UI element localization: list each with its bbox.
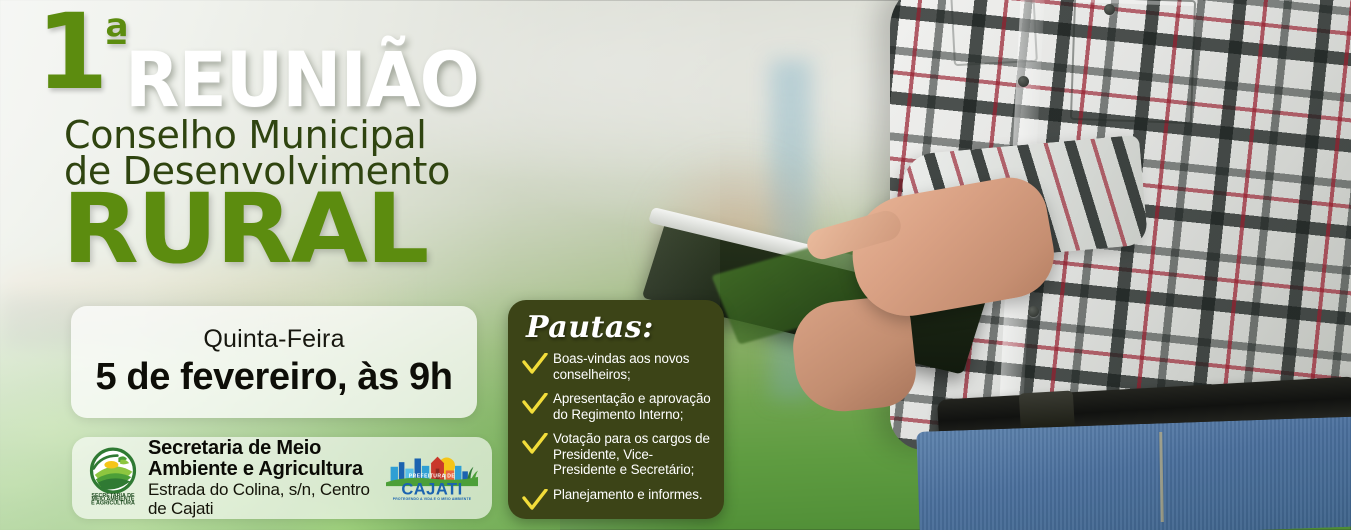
- agenda-item: Apresentação e aprovação do Regimento In…: [522, 391, 712, 422]
- weekday-label: Quinta-Feira: [203, 325, 344, 354]
- cajati-subtext: PROTEGENDO A VIDA E O MEIO AMBIENTE: [393, 497, 472, 501]
- secretariat-name-line-1: Secretaria de Meio: [148, 438, 380, 459]
- checkmark-icon: [522, 433, 548, 455]
- checkmark-icon: [522, 353, 548, 375]
- cajati-supertext: PREFEITURA DE: [409, 473, 456, 479]
- agenda-panel: Pautas: Boas-vindas aos novos conselheir…: [508, 300, 724, 519]
- agenda-list: Boas-vindas aos novos conselheiros; Apre…: [522, 351, 712, 511]
- event-banner: 1ª REUNIÃO Conselho Municipal de Desenvo…: [0, 0, 1351, 530]
- agenda-item-label: Planejamento e informes.: [553, 487, 702, 503]
- agenda-heading: Pautas:: [526, 310, 712, 345]
- ordinal-digit: 1: [36, 0, 103, 113]
- secretariat-text: Secretaria de Meio Ambiente e Agricultur…: [148, 438, 380, 519]
- cajati-city-logo: PREFEITURA DE CAJATI PROTEGENDO A VIDA E…: [386, 450, 478, 506]
- date-card: Quinta-Feira 5 de fevereiro, às 9h: [71, 306, 477, 418]
- agenda-item: Boas-vindas aos novos conselheiros;: [522, 351, 712, 382]
- agenda-item-label: Boas-vindas aos novos conselheiros;: [553, 351, 712, 382]
- agenda-item: Votação para os cargos de Presidente, Vi…: [522, 431, 712, 478]
- headline-rural: RURAL: [62, 186, 427, 272]
- emblem-caption-3: E AGRICULTURA: [91, 500, 135, 505]
- secretariat-name-line-2: Ambiente e Agricultura: [148, 459, 380, 480]
- checkmark-icon: [522, 393, 548, 415]
- agenda-item-label: Votação para os cargos de Presidente, Vi…: [553, 431, 712, 478]
- banner-content: 1ª REUNIÃO Conselho Municipal de Desenvo…: [0, 0, 1351, 530]
- agenda-item: Planejamento e informes.: [522, 487, 712, 511]
- headline-reuniao: REUNIÃO: [125, 46, 479, 114]
- date-time-label: 5 de fevereiro, às 9h: [95, 356, 452, 399]
- secretariat-address: Estrada do Colina, s/n, Centro de Cajati: [148, 481, 380, 518]
- cajati-name: CAJATI: [401, 479, 462, 498]
- checkmark-icon: [522, 489, 548, 511]
- agenda-item-label: Apresentação e aprovação do Regimento In…: [553, 391, 712, 422]
- footer-card: SECRETARIA DE MEIO AMBIENTE E AGRICULTUR…: [72, 437, 492, 519]
- ordinal-number: 1ª: [36, 8, 129, 97]
- headline-row: 1ª: [36, 8, 129, 97]
- ordinal-suffix: ª: [103, 9, 129, 63]
- secretariat-emblem-icon: SECRETARIA DE MEIO AMBIENTE E AGRICULTUR…: [86, 447, 140, 510]
